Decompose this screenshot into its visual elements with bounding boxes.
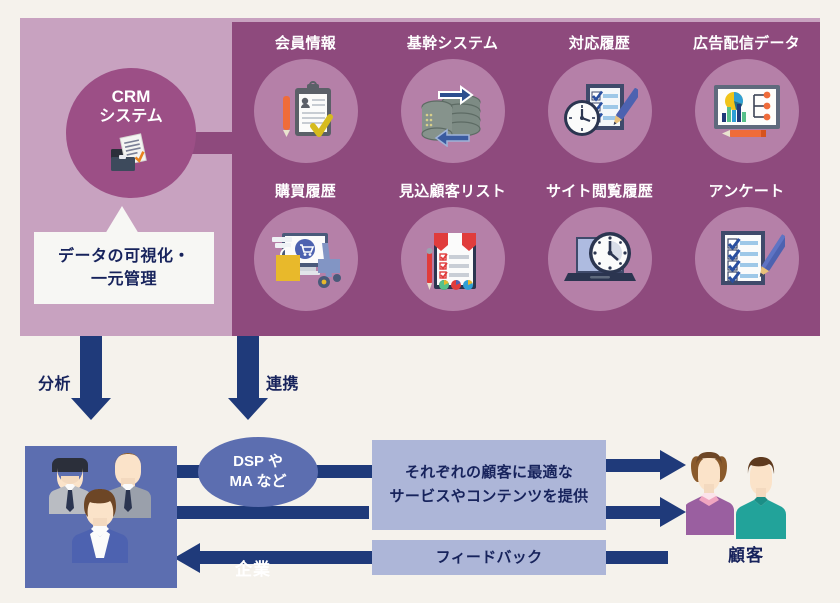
callout-arrow [105,206,139,234]
callout-line-2: 一元管理 [91,268,157,291]
dsp-to-service-bar [310,465,372,478]
data-source-survey[interactable]: アンケート [673,180,820,311]
data-source-label: 見込顧客リスト [379,180,526,201]
data-source-purchase-history[interactable]: 購買履歴 [232,180,379,311]
data-source-ad-delivery-data[interactable]: 広告配信データ [673,32,820,163]
data-source-label: 広告配信データ [673,32,820,53]
crm-title: CRM [112,86,151,107]
feedback-box: フィードバック [372,540,606,575]
laptop-clock-icon [548,207,652,311]
survey-checklist-icon [695,207,799,311]
data-source-label: 基幹システム [379,32,526,53]
service-to-customer-arrow-1 [660,450,686,480]
service-offer-line-2: サービスやコンテンツを提供 [390,485,589,509]
diagram-canvas: CRM システム データの可視化・ 一元管理 [0,0,840,603]
feedback-label: フィードバック [436,546,543,570]
service-offer-line-1: それぞれの顧客に最適な [405,461,573,485]
data-source-site-browsing-history[interactable]: サイト閲覧履歴 [526,180,673,311]
service-offer-box: それぞれの顧客に最適な サービスやコンテンツを提供 [372,440,606,530]
data-source-core-system[interactable]: 基幹システム [379,32,526,163]
data-source-label: アンケート [673,180,820,201]
data-source-member-info[interactable]: 会員情報 [232,32,379,163]
data-source-label: サイト閲覧履歴 [526,180,673,201]
service-to-customer-bar-1 [606,459,668,472]
service-to-customer-bar-2 [606,506,668,519]
three-business-people-icon [25,553,177,570]
data-source-label: 対応履歴 [526,32,673,53]
crm-subtitle: システム [99,107,163,127]
callout-line-1: データの可視化・ [58,245,190,268]
document-wallet-icon [108,133,154,178]
data-source-label: 購買履歴 [232,180,379,201]
presentation-charts-icon [695,59,799,163]
crm-system-node[interactable]: CRM システム [66,68,196,198]
dsp-line-1: DSP や [233,452,283,472]
shop-checklist-icon [401,207,505,311]
data-source-grid: 会員情報 [232,24,820,336]
dsp-ma-node[interactable]: DSP や MA など [198,437,318,507]
database-sync-icon [401,59,505,163]
customers-label: 顧客 [686,541,806,566]
data-source-contact-history[interactable]: 対応履歴 [526,32,673,163]
data-source-label: 会員情報 [232,32,379,53]
clipboard-member-profile-icon [254,59,358,163]
data-visualization-callout: データの可視化・ 一元管理 [34,232,214,304]
analysis-arrow [80,336,111,420]
integration-arrow [237,336,268,420]
data-source-prospect-list[interactable]: 見込顧客リスト [379,180,526,311]
company-label: 企業 [177,555,329,580]
clock-checklist-icon [548,59,652,163]
service-to-customer-arrow-2 [660,497,686,527]
customer-to-feedback-bar [606,551,668,564]
dsp-line-2: MA など [230,472,287,492]
integration-arrow-label: 連携 [266,370,299,394]
analysis-arrow-label: 分析 [38,370,71,394]
company-node[interactable]: 企業 [25,446,177,588]
customers-node[interactable] [686,448,806,548]
ecommerce-cart-icon [254,207,358,311]
company-to-service-bar [177,506,369,519]
